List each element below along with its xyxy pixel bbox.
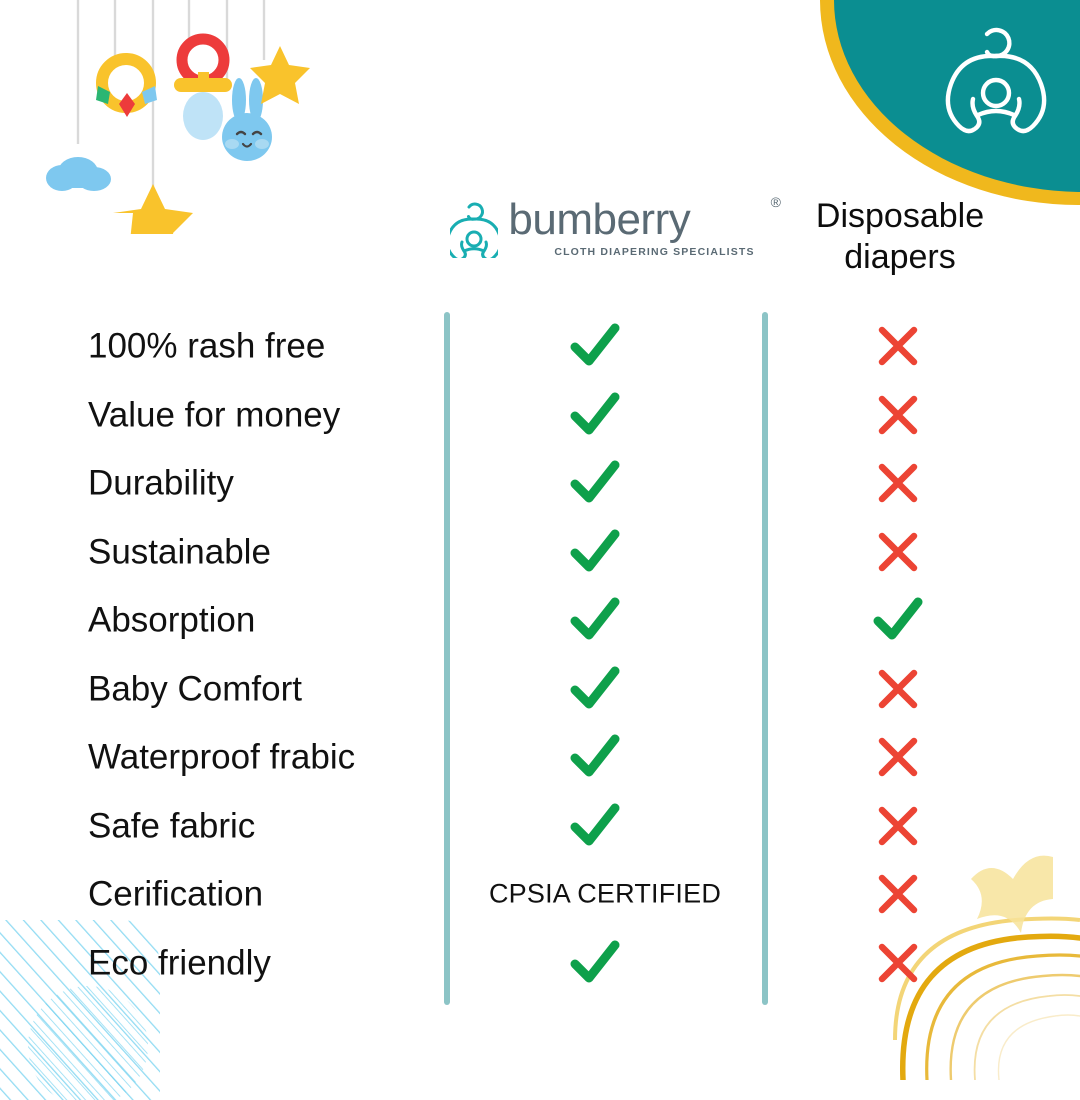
table-row: 100% rash free xyxy=(0,312,1080,381)
brand-tagline: CLOTH DIAPERING SPECIALISTS xyxy=(554,246,754,258)
cross-icon xyxy=(843,727,953,787)
brand-logo-header: bumberry ® CLOTH DIAPERING SPECIALISTS xyxy=(440,198,765,258)
table-row: Baby Comfort xyxy=(0,655,1080,724)
feature-label: Value for money xyxy=(88,397,340,432)
cross-icon xyxy=(843,316,953,376)
check-icon xyxy=(540,659,650,719)
competitor-column-header: Disposable diapers xyxy=(765,196,1035,279)
table-row: Absorption xyxy=(0,586,1080,655)
check-icon xyxy=(540,727,650,787)
comparison-rows: 100% rash freeValue for moneyDurabilityS… xyxy=(0,312,1080,997)
check-icon xyxy=(540,522,650,582)
feature-label: Eco friendly xyxy=(88,945,271,980)
cross-icon xyxy=(843,453,953,513)
table-row: Eco friendly xyxy=(0,929,1080,998)
table-header: bumberry ® CLOTH DIAPERING SPECIALISTS D… xyxy=(0,0,1080,312)
table-row: CerificationCPSIA CERTIFIED xyxy=(0,860,1080,929)
cross-icon xyxy=(843,385,953,445)
check-icon xyxy=(540,453,650,513)
cross-icon xyxy=(843,659,953,719)
cross-icon xyxy=(843,864,953,924)
check-icon xyxy=(843,590,953,650)
table-row: Waterproof frabic xyxy=(0,723,1080,792)
check-icon xyxy=(540,590,650,650)
competitor-title-line2: diapers xyxy=(765,237,1035,278)
check-icon xyxy=(540,316,650,376)
table-row: Value for money xyxy=(0,381,1080,450)
check-icon xyxy=(540,933,650,993)
table-row: Sustainable xyxy=(0,518,1080,587)
feature-label: Cerification xyxy=(88,877,263,912)
check-icon xyxy=(540,385,650,445)
brand-name: bumberry xyxy=(508,198,690,242)
feature-label: Durability xyxy=(88,466,234,501)
feature-label: Absorption xyxy=(88,603,255,638)
mother-and-baby-icon xyxy=(450,198,498,258)
table-row: Safe fabric xyxy=(0,792,1080,861)
feature-label: Sustainable xyxy=(88,534,271,569)
cross-icon xyxy=(843,796,953,856)
cross-icon xyxy=(843,522,953,582)
check-icon xyxy=(540,796,650,856)
feature-label: Waterproof frabic xyxy=(88,740,355,775)
certification-label: CPSIA CERTIFIED xyxy=(460,881,750,908)
feature-label: Safe fabric xyxy=(88,808,255,843)
competitor-title-line1: Disposable xyxy=(765,196,1035,237)
feature-label: Baby Comfort xyxy=(88,671,302,706)
cross-icon xyxy=(843,933,953,993)
feature-label: 100% rash free xyxy=(88,329,325,364)
comparison-infographic: bumberry ® CLOTH DIAPERING SPECIALISTS D… xyxy=(0,0,1080,1080)
table-row: Durability xyxy=(0,449,1080,518)
